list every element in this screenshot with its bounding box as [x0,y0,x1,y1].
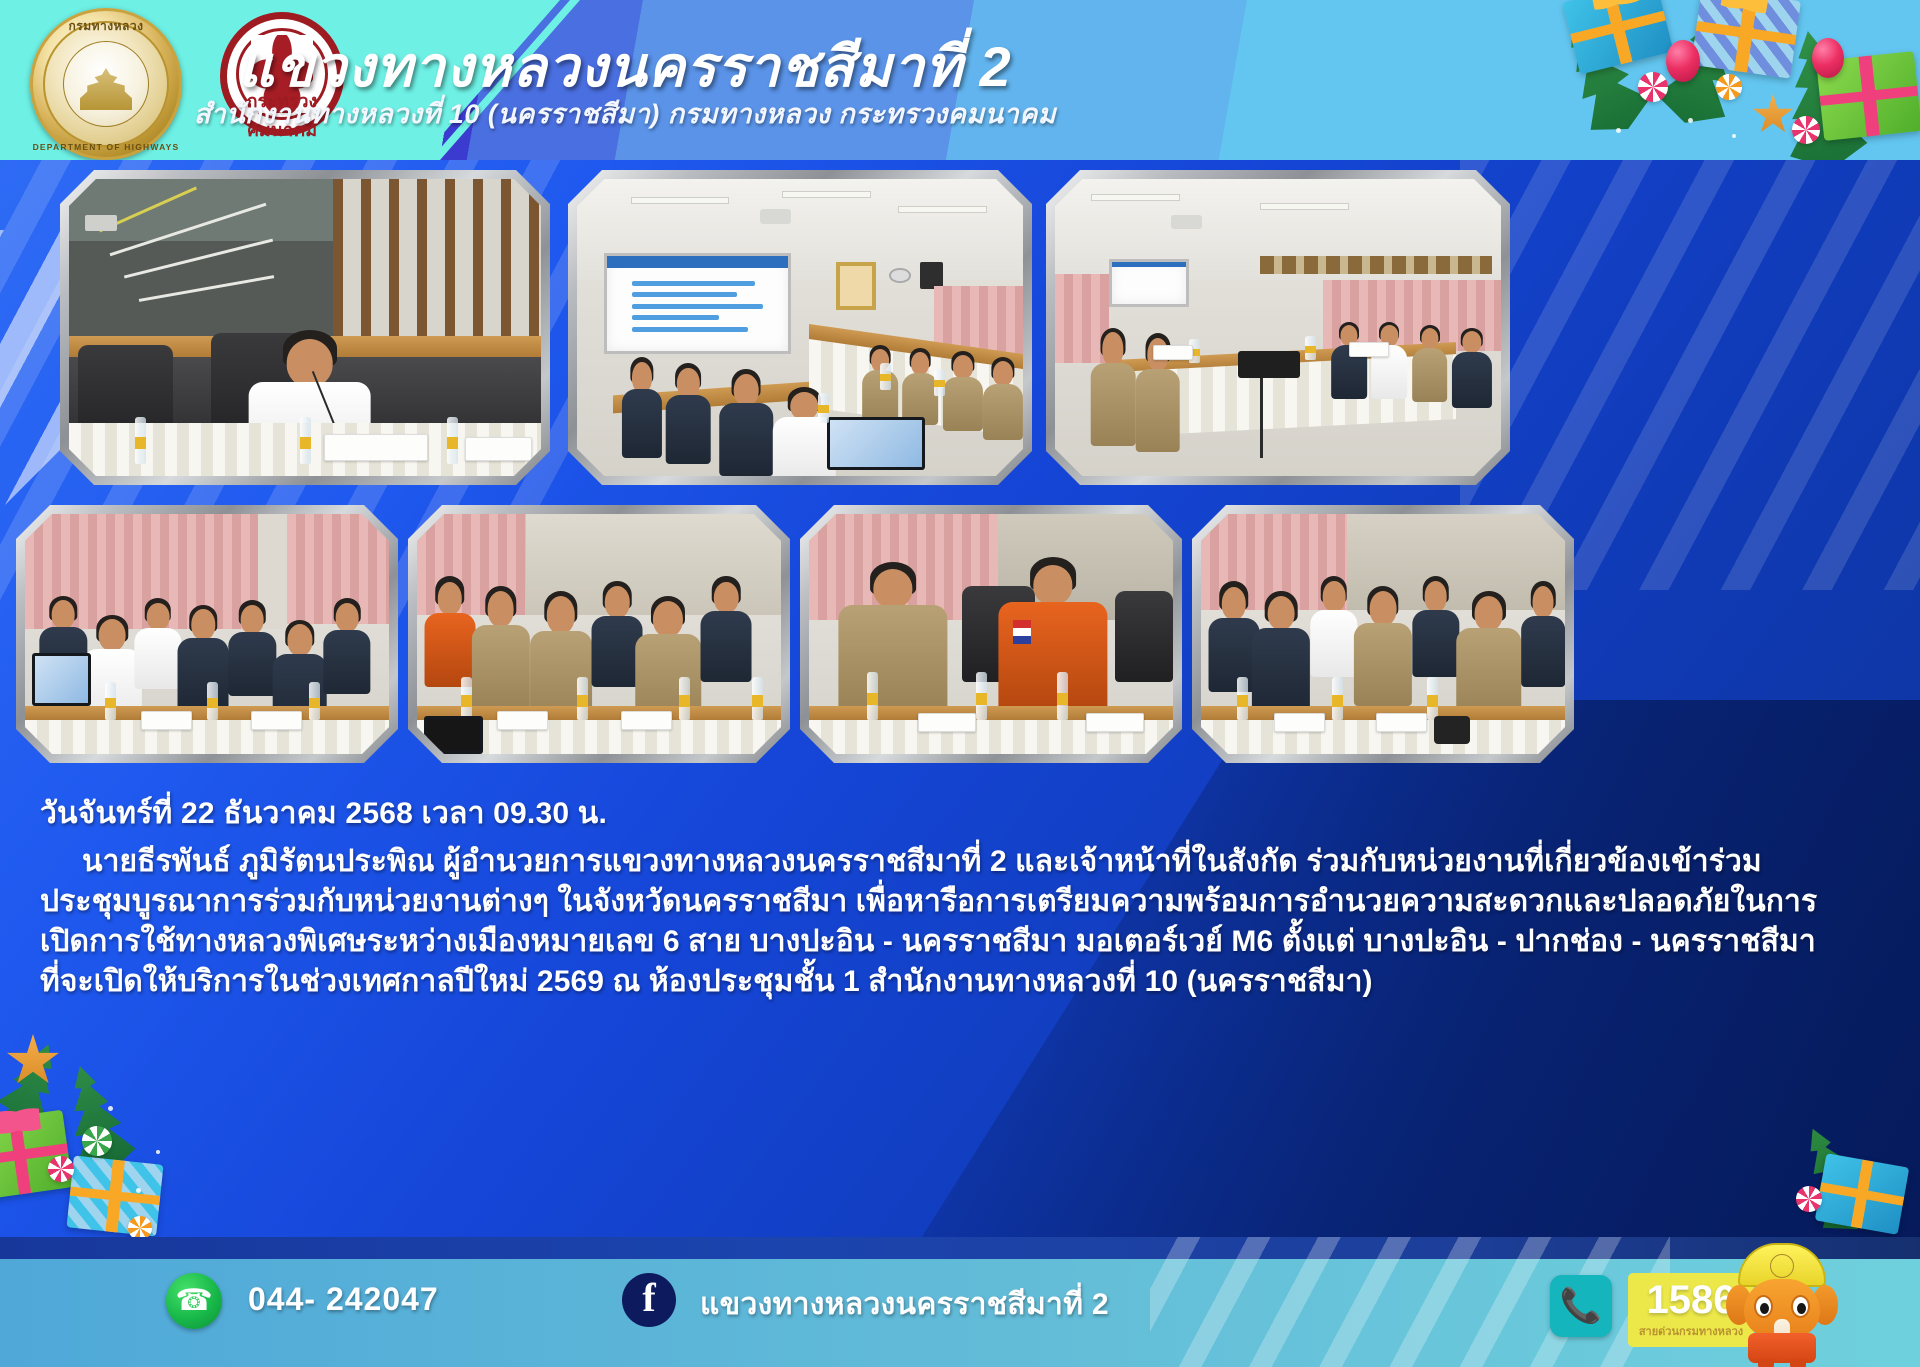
gallery-photo-2-image [577,179,1023,476]
page-subtitle: สำนักงานทางหลวงที่ 10 (นครราชสีมา) กรมทา… [0,92,1250,135]
seal-center [63,41,149,127]
announcement-line-4: ที่จะเปิดให้บริการในช่วงเทศกาลปีใหม่ 256… [40,962,1880,1002]
facebook-icon[interactable]: f [622,1273,676,1327]
mascot-eye-right [1791,1295,1810,1318]
seal-bottom-label: DEPARTMENT OF HIGHWAYS [30,142,182,152]
gallery-photo-5-image [417,514,781,754]
gallery-photo-6-image [809,514,1173,754]
mascot-leg-left [1758,1359,1774,1367]
mascot-eye-left [1754,1295,1773,1318]
crown-icon [80,68,132,110]
gallery-photo-7-image [1201,514,1565,754]
highway-elephant-mascot-icon [1722,1243,1842,1367]
gallery-photo-4[interactable] [16,505,398,763]
poster-body: วันจันทร์ที่ 22 ธันวาคม 2568 เวลา 09.30 … [0,160,1920,1237]
gallery-photo-5[interactable] [408,505,790,763]
gallery-photo-6[interactable] [800,505,1182,763]
mascot-leg-right [1790,1359,1806,1367]
gallery-photo-3-image [1055,179,1501,476]
contact-phone-number: 044- 242047 [248,1281,439,1318]
announcement-text: วันจันทร์ที่ 22 ธันวาคม 2568 เวลา 09.30 … [0,790,1920,1060]
mascot-helmet-badge [1770,1254,1794,1278]
gallery-photo-1[interactable] [60,170,550,485]
announcement-line-1: นายธีรพันธ์ ภูมิรัตนประพิณ ผู้อำนวยการแข… [40,842,1880,882]
announcement-date: วันจันทร์ที่ 22 ธันวาคม 2568 เวลา 09.30 … [40,790,1880,837]
seal-top-label: กรมทางหลวง [30,17,182,36]
page-footer: ☎ 044- 242047 f แขวงทางหลวงนครราชสีมาที่… [0,1237,1920,1367]
gallery-photo-4-image [25,514,389,754]
page-header: กรมทางหลวง DEPARTMENT OF HIGHWAYS กระทรว… [0,0,1920,160]
announcement-line-3: เปิดการใช้ทางหลวงพิเศษระหว่างเมืองหมายเล… [40,922,1880,962]
facebook-page-name[interactable]: แขวงทางหลวงนครราชสีมาที่ 2 [700,1281,1109,1328]
phone-circle-icon: ☎ [166,1273,222,1329]
gallery-photo-7[interactable] [1192,505,1574,763]
poster-root: กรมทางหลวง DEPARTMENT OF HIGHWAYS กระทรว… [0,0,1920,1367]
hotline-phone-icon: 📞 [1550,1275,1612,1337]
gallery-photo-2[interactable] [568,170,1032,485]
announcement-line-2: ประชุมบูรณาการร่วมกับหน่วยงานต่างๆ ในจัง… [40,882,1880,922]
gallery-photo-3[interactable] [1046,170,1510,485]
gallery-photo-1-image [69,179,541,476]
